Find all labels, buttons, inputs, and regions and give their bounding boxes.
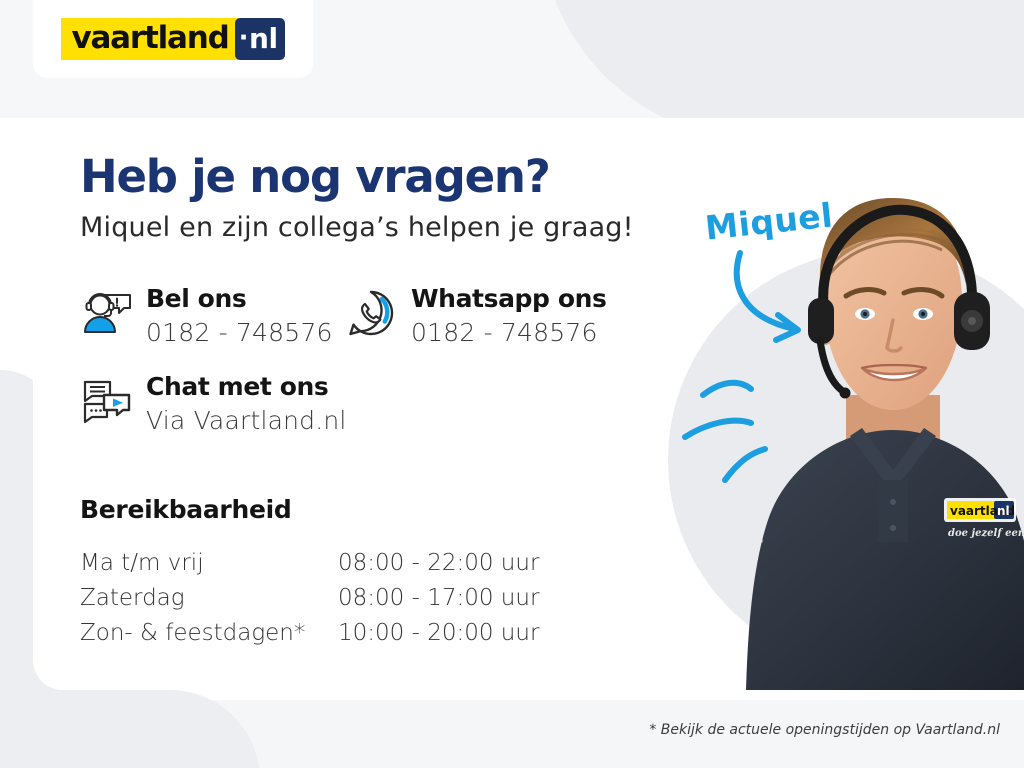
contact-call-title: Bel ons xyxy=(146,285,333,313)
shirt-logo: vaartland nl doe jezelf een plezier xyxy=(944,498,1024,539)
page-title: Heb je nog vragen? xyxy=(80,150,550,203)
contact-whatsapp-text: Whatsapp ons 0182 - 748576 xyxy=(411,285,607,347)
agent-photo-area: Miquel xyxy=(633,120,1024,690)
logo-dot: · xyxy=(239,25,248,51)
chat-bubbles-icon xyxy=(80,375,132,427)
availability-day: Ma t/m vrij xyxy=(80,550,338,576)
table-row: Ma t/m vrij 08:00 - 22:00 uur xyxy=(80,545,539,580)
logo-tld-text: nl xyxy=(249,22,278,55)
availability-time: 08:00 - 22:00 uur xyxy=(338,550,539,576)
contact-call[interactable]: Bel ons 0182 - 748576 xyxy=(80,285,333,347)
vaartland-logo: vaartland ·nl xyxy=(61,18,284,60)
contact-chat[interactable]: Chat met ons Via Vaartland.nl xyxy=(80,373,347,435)
main-content-card: Heb je nog vragen? Miquel en zijn colleg… xyxy=(33,120,1024,690)
logo-wordmark: vaartland xyxy=(61,18,238,60)
contact-call-text: Bel ons 0182 - 748576 xyxy=(146,285,333,347)
availability-day: Zaterdag xyxy=(80,585,338,611)
availability-time: 10:00 - 20:00 uur xyxy=(338,620,539,646)
availability-time: 08:00 - 17:00 uur xyxy=(338,585,539,611)
contact-chat-title: Chat met ons xyxy=(146,373,347,401)
svg-text:nl: nl xyxy=(997,504,1010,518)
availability-table: Ma t/m vrij 08:00 - 22:00 uur Zaterdag 0… xyxy=(80,545,539,650)
table-row: Zaterdag 08:00 - 17:00 uur xyxy=(80,580,539,615)
poster-canvas: vaartland ·nl Heb je nog vragen? Miquel … xyxy=(0,0,1024,768)
brand-logo-card[interactable]: vaartland ·nl xyxy=(33,0,313,78)
page-subtitle: Miquel en zijn collega’s helpen je graag… xyxy=(80,212,634,243)
contact-whatsapp[interactable]: Whatsapp ons 0182 - 748576 xyxy=(345,285,607,347)
contact-whatsapp-title: Whatsapp ons xyxy=(411,285,607,313)
footnote-text: * Bekijk de actuele openingstijden op Va… xyxy=(0,722,1024,738)
contact-chat-text: Chat met ons Via Vaartland.nl xyxy=(146,373,347,435)
headset-person-icon xyxy=(80,287,132,339)
contact-call-number[interactable]: 0182 - 748576 xyxy=(146,318,333,347)
whatsapp-icon xyxy=(345,287,397,339)
svg-text:doe jezelf een plezier: doe jezelf een plezier xyxy=(948,528,1024,539)
contact-chat-value[interactable]: Via Vaartland.nl xyxy=(146,406,347,435)
table-row: Zon- & feestdagen* 10:00 - 20:00 uur xyxy=(80,615,539,650)
agent-photo: vaartland nl doe jezelf een plezier xyxy=(728,180,1024,690)
availability-title: Bereikbaarheid xyxy=(80,495,291,524)
availability-day: Zon- & feestdagen* xyxy=(80,620,338,646)
contact-whatsapp-number[interactable]: 0182 - 748576 xyxy=(411,318,607,347)
logo-tld-badge: ·nl xyxy=(235,18,285,60)
